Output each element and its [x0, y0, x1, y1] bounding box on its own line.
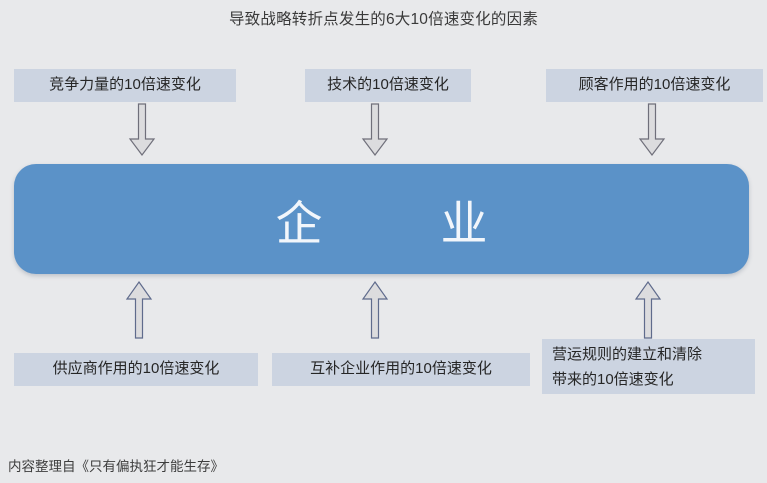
arrow-down-icon-1: [128, 103, 156, 157]
top-factor-chip-3[interactable]: 顾客作用的10倍速变化: [546, 69, 763, 102]
top-factor-chip-2[interactable]: 技术的10倍速变化: [305, 69, 471, 102]
core-enterprise-bar: 企业: [14, 164, 749, 274]
page-title: 导致战略转折点发生的6大10倍速变化的因素: [0, 7, 767, 29]
arrow-up-icon-3: [634, 280, 662, 340]
diagram-canvas: 导致战略转折点发生的6大10倍速变化的因素 竞争力量的10倍速变化 技术的10倍…: [0, 0, 767, 483]
arrow-down-icon-2: [361, 103, 389, 157]
arrow-up-icon-2: [361, 280, 389, 340]
bottom-factor-chip-3[interactable]: 营运规则的建立和清除 带来的10倍速变化: [542, 339, 755, 394]
source-note: 内容整理自《只有偏执狂才能生存》: [8, 455, 224, 475]
arrow-down-icon-3: [638, 103, 666, 157]
bottom-factor-chip-2[interactable]: 互补企业作用的10倍速变化: [272, 353, 530, 386]
bottom-factor-chip-1[interactable]: 供应商作用的10倍速变化: [14, 353, 258, 386]
top-factor-chip-1[interactable]: 竞争力量的10倍速变化: [14, 69, 236, 102]
arrow-up-icon-1: [125, 280, 153, 340]
core-enterprise-label: 企业: [14, 164, 749, 274]
